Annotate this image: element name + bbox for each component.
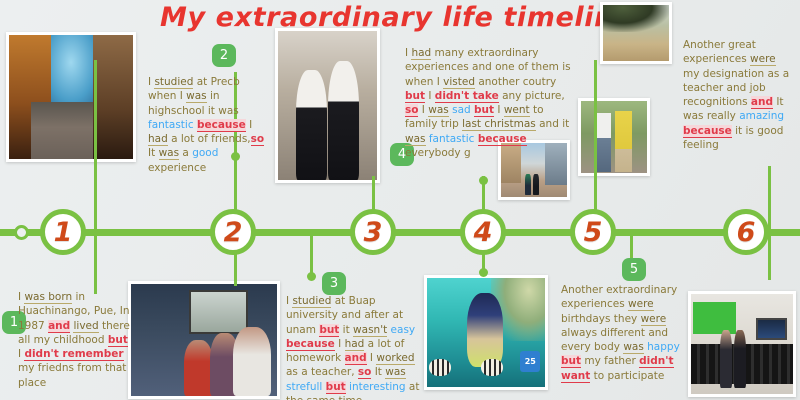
photo-hometown-street (6, 32, 136, 162)
entry-3-text: I studied at Buap university and after a… (286, 294, 422, 400)
photo-classroom (128, 281, 280, 399)
connector-line-3-down (310, 236, 313, 276)
badge-3-label: 3 (330, 276, 338, 291)
photo-graduation (275, 28, 380, 183)
entry-5-text: Another extraordinary experiences were b… (561, 283, 689, 383)
photo-snorkeling: 25 (424, 275, 548, 390)
connector-line-6 (768, 166, 771, 234)
timeline-node-2-label: 2 (224, 217, 243, 248)
photo-auditorium (688, 291, 796, 397)
connector-line-1 (94, 60, 97, 232)
badge-2-label: 2 (220, 48, 228, 63)
entry-4-text: I had many extraordinary experiences and… (405, 46, 573, 160)
timeline-node-2[interactable]: 2 (210, 209, 256, 255)
photo-watermark: 25 (520, 351, 540, 372)
entry-1-text: I was born in Huachinango, Pue, In 1987 … (18, 290, 130, 390)
badge-2: 2 (212, 44, 236, 67)
badge-1-label: 1 (10, 315, 18, 330)
badge-5: 5 (622, 258, 646, 281)
timeline-poster: My extraordinary life timeline 25 (0, 0, 800, 400)
connector-line-6-down (768, 236, 771, 280)
timeline-node-3-label: 3 (364, 217, 383, 248)
entry-6-text: Another great experiences were my design… (683, 38, 795, 152)
connector-dot-3 (307, 272, 316, 281)
timeline-node-4-label: 4 (474, 217, 493, 248)
timeline-spine (0, 229, 800, 236)
connector-dot-4 (479, 176, 488, 185)
timeline-node-3[interactable]: 3 (350, 209, 396, 255)
timeline-node-6-label: 6 (737, 217, 756, 248)
badge-5-label: 5 (630, 262, 638, 277)
connector-line-1-down (94, 236, 97, 294)
timeline-node-4[interactable]: 4 (460, 209, 506, 255)
timeline-start-marker (14, 225, 29, 240)
connector-dot-snorkel (479, 268, 488, 277)
photo-family-outdoors (600, 2, 672, 64)
badge-3: 3 (322, 272, 346, 295)
timeline-node-1[interactable]: 1 (40, 209, 86, 255)
entry-2-text: I studied at Precb when I was in highsch… (148, 75, 266, 175)
connector-line-5 (594, 60, 597, 232)
timeline-node-1-label: 1 (54, 217, 73, 248)
photo-couple (578, 98, 650, 176)
timeline-node-5[interactable]: 5 (570, 209, 616, 255)
timeline-node-5-label: 5 (584, 217, 603, 248)
timeline-node-6[interactable]: 6 (723, 209, 769, 255)
